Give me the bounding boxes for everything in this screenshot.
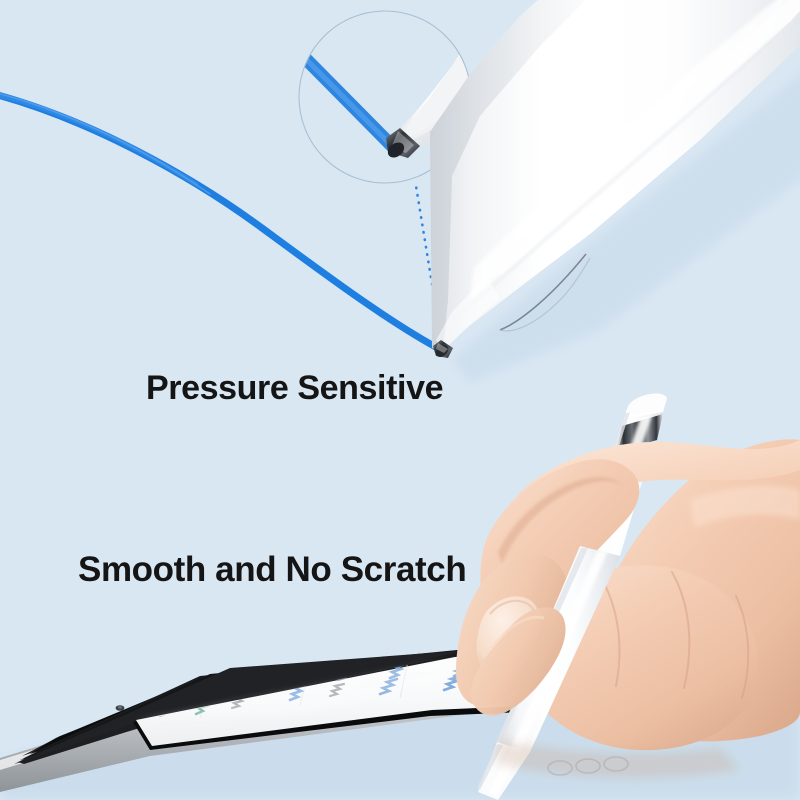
product-feature-image: Pressure Sensitive Smooth and No Scratch <box>0 0 800 800</box>
caption-smooth-no-scratch: Smooth and No Scratch <box>78 552 466 587</box>
caption-pressure-sensitive: Pressure Sensitive <box>146 371 443 405</box>
